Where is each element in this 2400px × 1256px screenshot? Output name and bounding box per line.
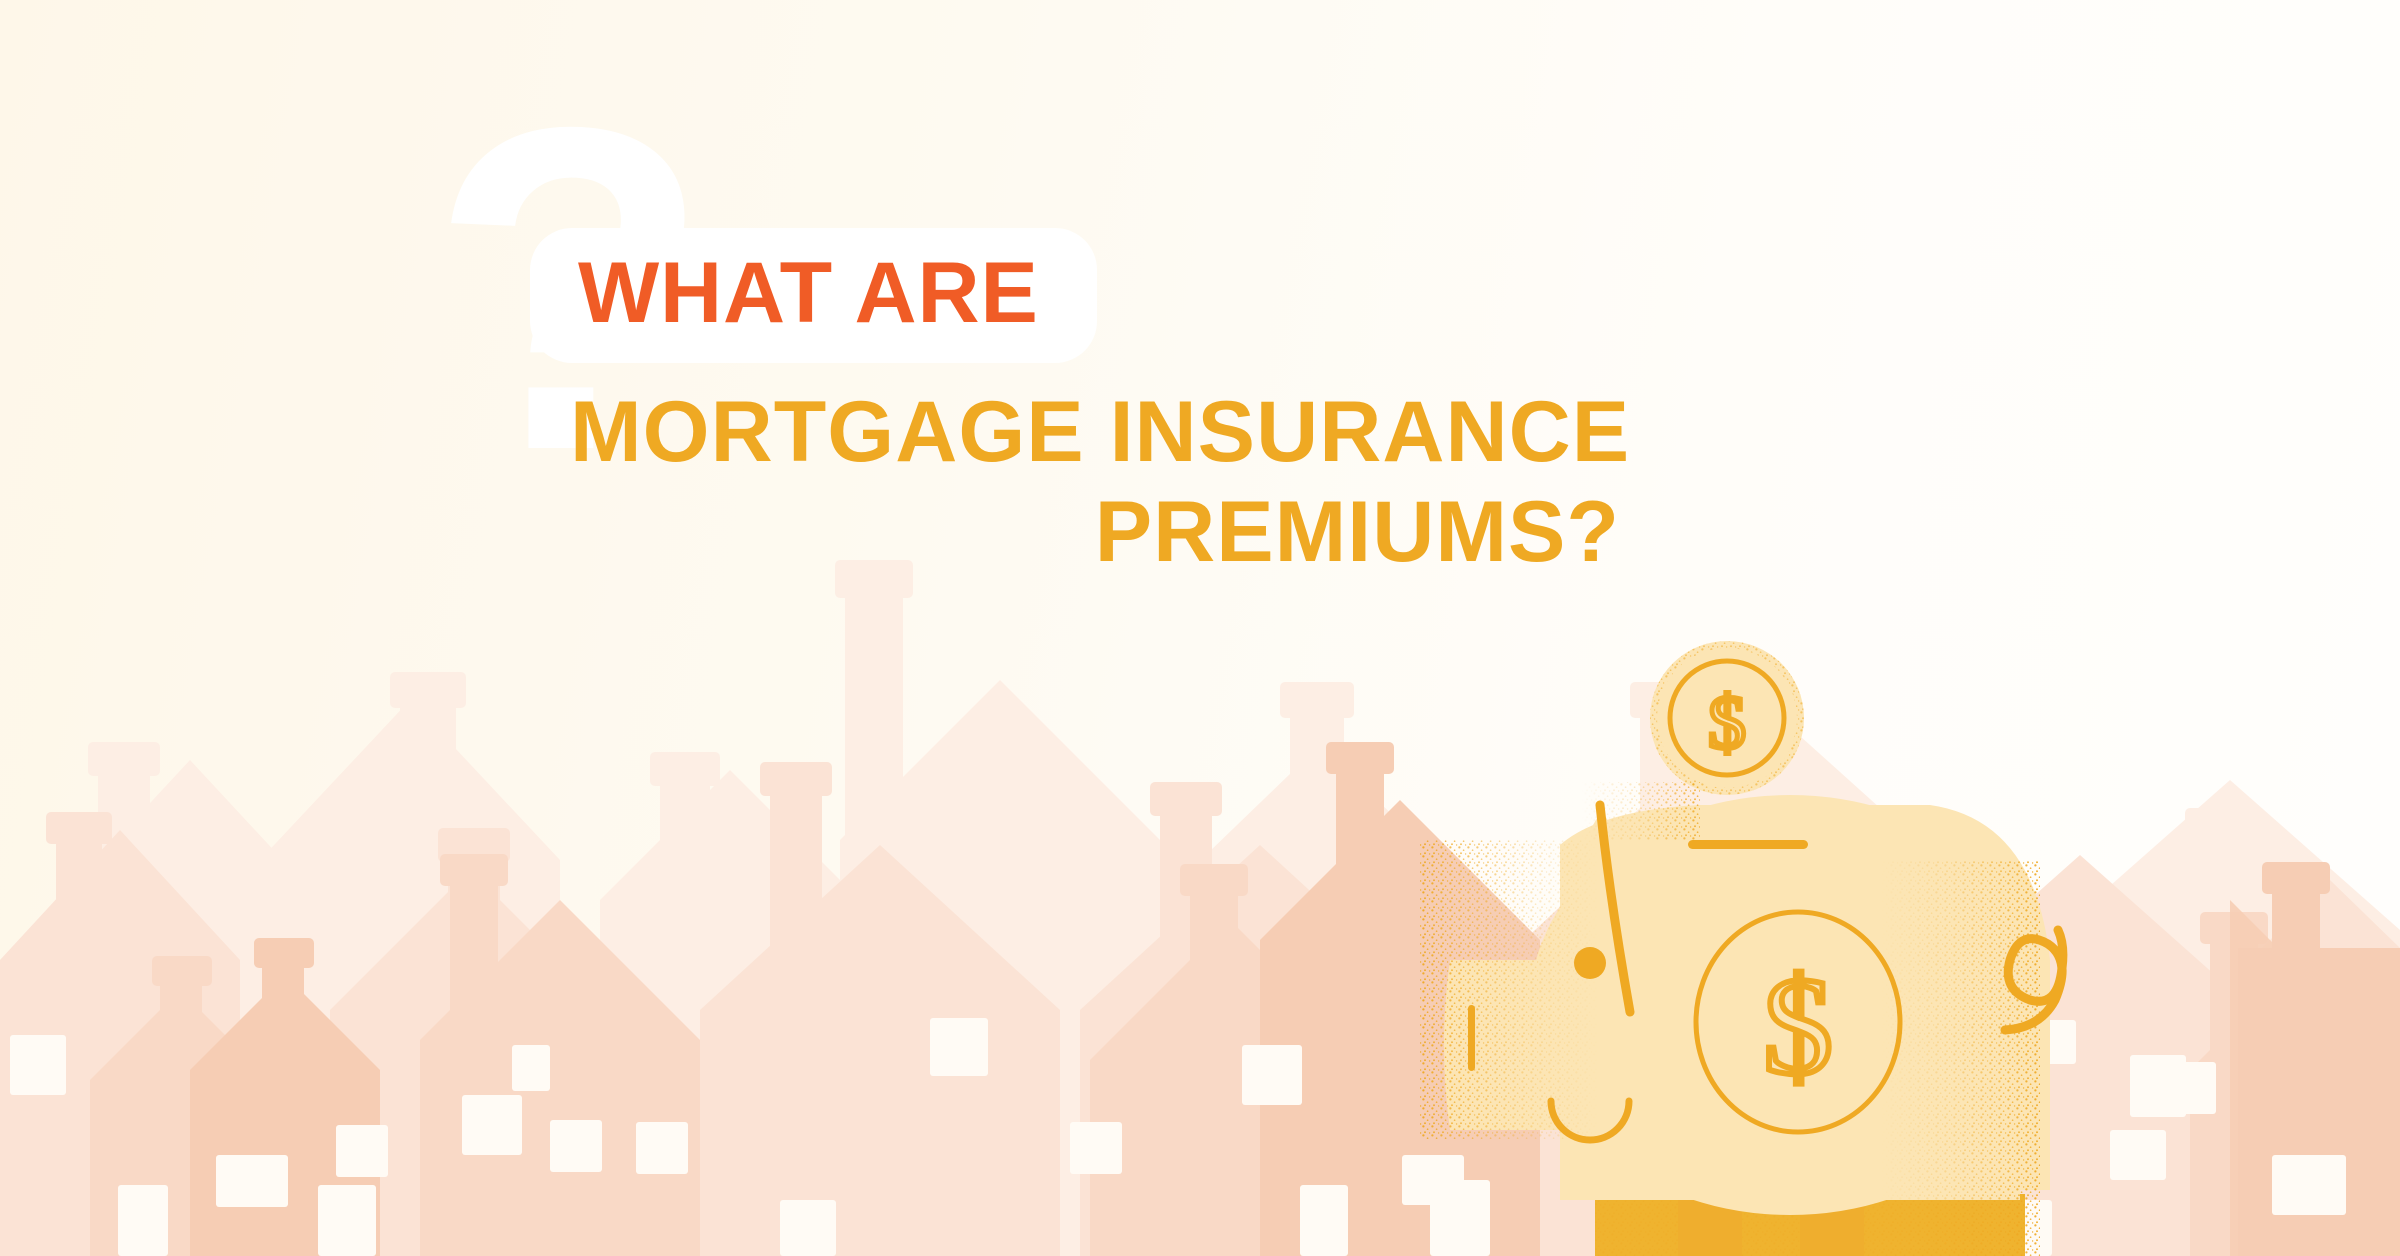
svg-text:$: $ bbox=[1708, 681, 1746, 765]
headline-line1-badge: WHAT ARE bbox=[530, 228, 1097, 363]
coin-icon: $ bbox=[1650, 641, 1804, 795]
piggy-nostril bbox=[1468, 1005, 1475, 1071]
headline-line1: WHAT ARE bbox=[578, 252, 1039, 335]
piggy-bank-illustration: $ bbox=[0, 0, 2400, 1256]
headline-block: WHAT ARE MORTGAGE INSURANCE PREMIUMS? bbox=[530, 228, 1950, 575]
headline-line2: MORTGAGE INSURANCE bbox=[570, 389, 1950, 475]
piggy-body: $ bbox=[1420, 782, 2063, 1256]
headline-line3: PREMIUMS? bbox=[530, 489, 1950, 575]
banner-canvas: ? bbox=[0, 0, 2400, 1256]
piggy-eye bbox=[1574, 947, 1606, 979]
svg-text:$: $ bbox=[1763, 949, 1833, 1104]
